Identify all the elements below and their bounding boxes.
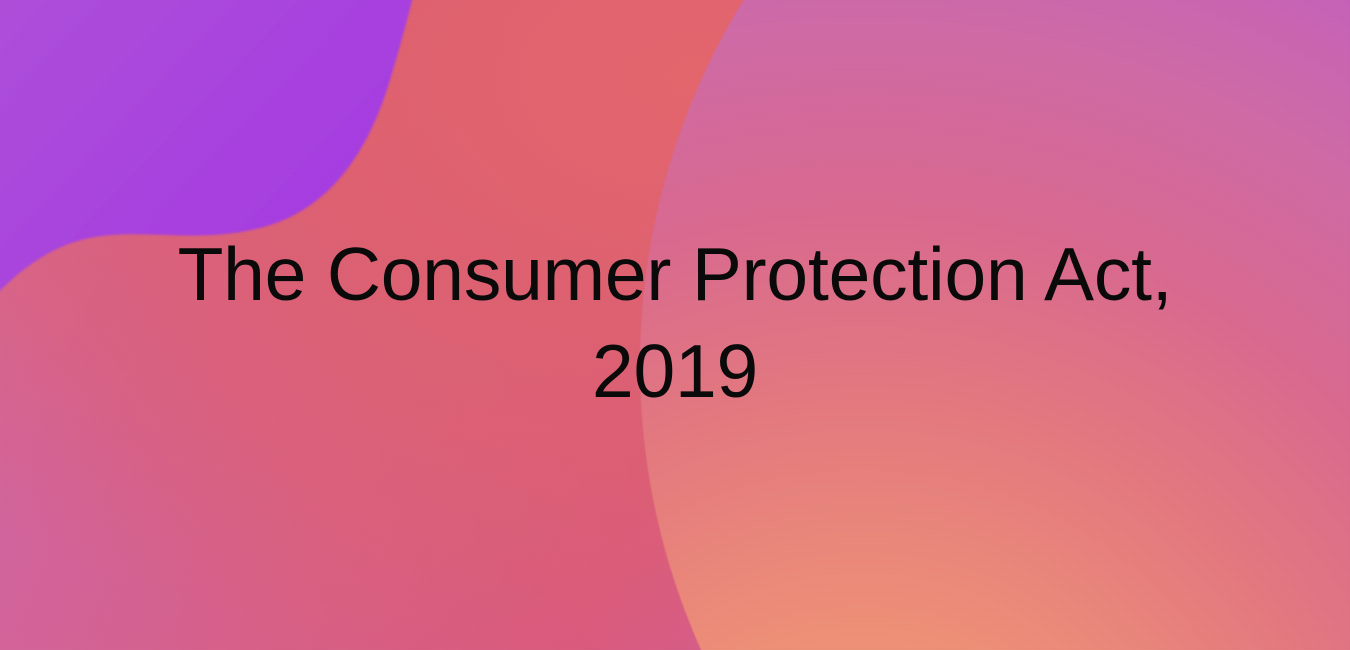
banner-hero: The Consumer Protection Act, 2019 <box>0 0 1350 650</box>
page-title: The Consumer Protection Act, 2019 <box>0 226 1350 420</box>
title-line-1: The Consumer Protection Act, <box>40 226 1310 323</box>
title-line-2: 2019 <box>40 323 1310 420</box>
